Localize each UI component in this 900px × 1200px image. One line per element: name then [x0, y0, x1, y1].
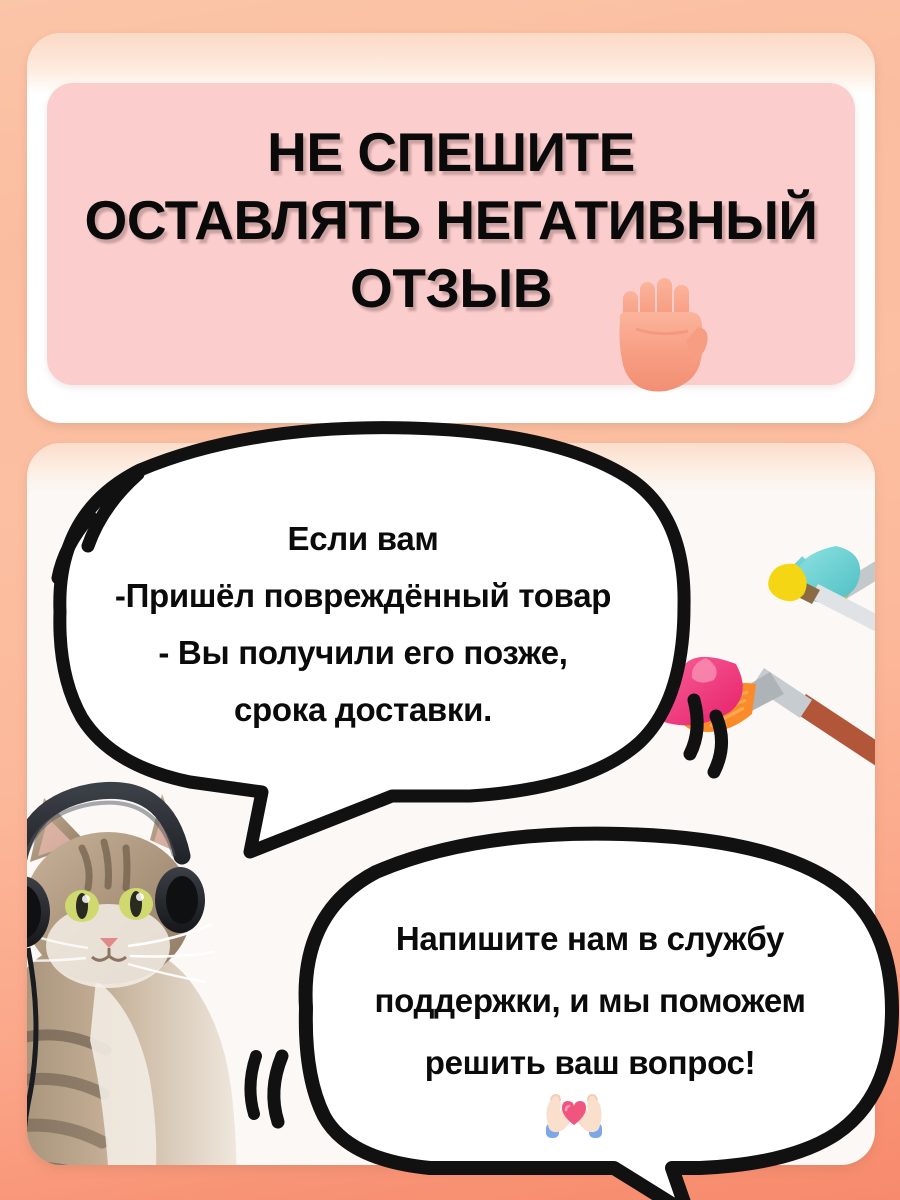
content-card-top-tint	[27, 443, 875, 493]
bubble-primary-text: Если вам -Пришёл повреждённый товар - Вы…	[48, 510, 678, 738]
bubble-secondary-text: Напишите нам в службу поддержки, и мы по…	[300, 908, 880, 1094]
poster-canvas: НЕ СПЕШИТЕ ОСТАВЛЯТЬ НЕГАТИВНЫЙ ОТЗЫВ	[0, 0, 900, 1200]
raised-hand-icon	[612, 265, 708, 395]
heart-hands-icon	[540, 1085, 608, 1143]
page-title: НЕ СПЕШИТЕ ОСТАВЛЯТЬ НЕГАТИВНЫЙ ОТЗЫВ	[47, 118, 855, 322]
